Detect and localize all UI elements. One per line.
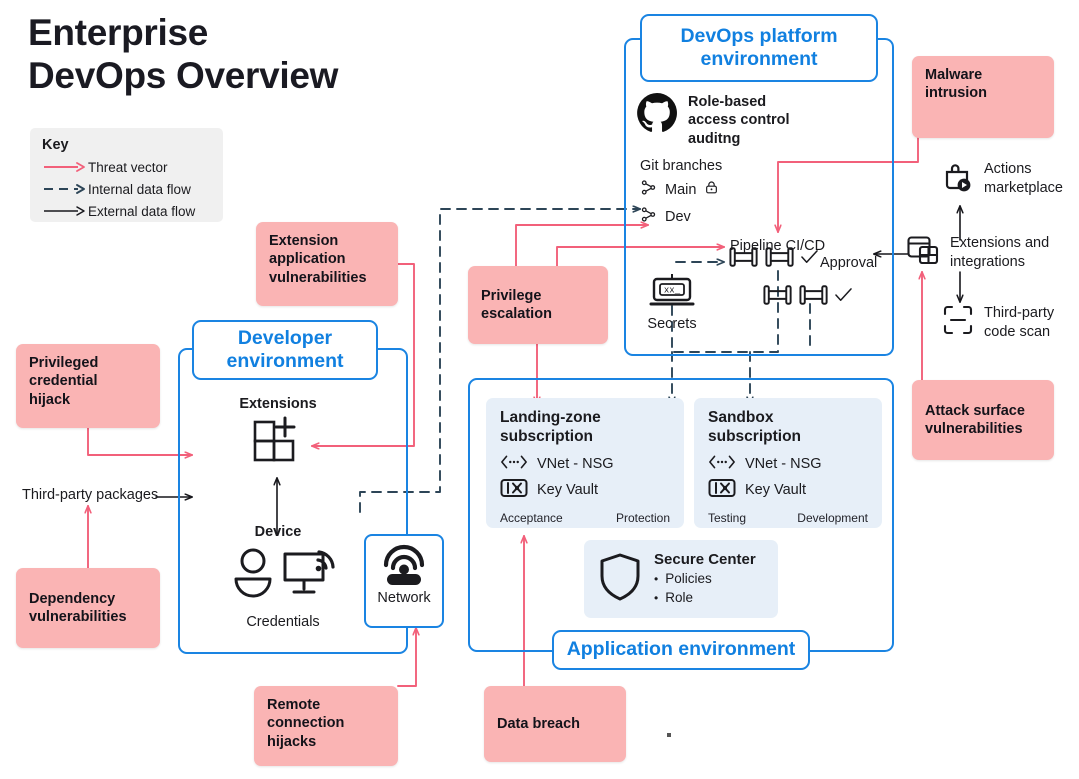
extensions-block: Extensions: [218, 396, 338, 467]
network-label: Network: [366, 590, 442, 606]
key-item-external-flow: External data flow: [42, 200, 211, 222]
actions-marketplace-icon: [940, 160, 974, 199]
threat-data-breach: Data breach: [484, 686, 626, 762]
subscription-footer-item: Acceptance: [500, 511, 563, 525]
secrets-block: xx_ Secrets: [636, 272, 708, 332]
diagram-canvas: Enterprise DevOps Overview Key Threat ve…: [0, 0, 1079, 779]
code-scan-block: Third-party code scan: [942, 304, 1054, 341]
pipeline-row-2: [762, 282, 853, 313]
sandbox-subscription: Sandbox subscription VNet - NSG: [694, 398, 882, 528]
extensions-integrations-icon: [906, 234, 940, 271]
threat-dependency-vulnerabilities: Dependency vulnerabilities: [16, 568, 160, 648]
devops-platform-environment-title: DevOps platform environment: [640, 14, 878, 82]
subscription-footer-item: Testing: [708, 511, 746, 525]
internal-flow-line-icon: [42, 182, 88, 196]
page-title-line2: DevOps Overview: [28, 55, 458, 98]
github-icon: [636, 92, 678, 139]
subscription-item-label: Key Vault: [537, 482, 598, 498]
pipeline-stage-icon: [762, 282, 795, 313]
vnet-icon: [708, 454, 736, 474]
device-label: Device: [232, 524, 324, 540]
subscription-name: Sandbox subscription: [708, 409, 868, 447]
svg-text:xx_: xx_: [664, 286, 681, 296]
extensions-label: Extensions: [218, 396, 338, 412]
key-item-label: Threat vector: [88, 160, 168, 175]
approval-label: Approval: [820, 255, 877, 271]
shield-icon: [598, 552, 642, 607]
vnet-icon: [500, 454, 528, 474]
secure-center-bullet-label: Policies: [665, 570, 712, 588]
network-node: Network: [364, 534, 444, 628]
pipeline-stage-icon: [764, 244, 797, 275]
developer-environment-title: Developer environment: [192, 320, 378, 380]
git-branch-name: Dev: [665, 209, 691, 225]
threat-privileged-credential-hijack: Privileged credential hijack: [16, 344, 160, 428]
third-party-packages-label: Third-party packages: [22, 487, 158, 503]
threat-privilege-escalation: Privilege escalation: [468, 266, 608, 344]
key-item-threat-vector: Threat vector: [42, 156, 211, 178]
git-branch-icon: [640, 179, 657, 201]
device-monitor-wifi-icon: [281, 546, 341, 603]
threat-vector-line-icon: [42, 160, 88, 174]
keyvault-icon: [500, 478, 528, 502]
stray-mark: [667, 733, 671, 737]
secure-center-bullet-label: Role: [665, 589, 693, 607]
subscription-name: Landing-zone subscription: [500, 409, 670, 447]
key-item-label: External data flow: [88, 204, 195, 219]
landing-zone-subscription: Landing-zone subscription VNet - NSG: [486, 398, 684, 528]
key-title: Key: [42, 137, 211, 153]
key-item-internal-flow: Internal data flow: [42, 178, 211, 200]
subscription-footer: Acceptance Protection: [500, 511, 670, 525]
extensions-integrations-label: Extensions and integrations: [950, 234, 1049, 271]
git-branch-icon: [640, 206, 657, 228]
keyvault-icon: [708, 478, 736, 502]
git-branch-main: Main: [640, 179, 722, 201]
subscription-item-vnet: VNet - NSG: [500, 454, 670, 474]
subscription-item-label: VNet - NSG: [745, 456, 822, 472]
external-flow-line-icon: [42, 204, 88, 218]
page-title-line1: Enterprise: [28, 12, 458, 55]
git-branches-heading: Git branches: [640, 158, 722, 174]
subscription-item-keyvault: Key Vault: [708, 478, 868, 502]
application-environment-title: Application environment: [552, 630, 810, 670]
threat-remote-connection-hijacks: Remote connection hijacks: [254, 686, 398, 766]
pipeline-stage-icon: [728, 244, 761, 275]
key-legend: Key Threat vector Internal data flow: [30, 128, 223, 222]
subscription-item-vnet: VNet - NSG: [708, 454, 868, 474]
extensions-integrations-block: Extensions and integrations: [906, 234, 1049, 271]
git-branch-dev: Dev: [640, 206, 722, 228]
device-credentials-icons: [232, 546, 341, 603]
user-credentials-icon: [232, 546, 274, 603]
rbac-block: Role-based access control auditng: [636, 92, 886, 148]
git-branches-block: Git branches Main: [640, 158, 722, 228]
git-branch-name: Main: [665, 182, 696, 198]
subscription-footer-item: Development: [797, 511, 868, 525]
secure-center-title: Secure Center: [654, 551, 756, 568]
threat-malware-intrusion: Malware intrusion: [912, 56, 1054, 138]
page-title: Enterprise DevOps Overview: [28, 12, 458, 98]
approval-check-icon: [800, 249, 819, 271]
wire-credhijack-to-devenv: [88, 428, 192, 455]
bullet-dot: •: [654, 590, 658, 606]
rbac-label: Role-based access control auditng: [688, 92, 790, 148]
threat-attack-surface-vulnerabilities: Attack surface vulnerabilities: [912, 380, 1054, 460]
subscription-item-keyvault: Key Vault: [500, 478, 670, 502]
secure-center-bullet: • Role: [654, 589, 756, 607]
subscription-footer-item: Protection: [616, 511, 670, 525]
pipeline-stage-icon: [798, 282, 831, 313]
key-item-label: Internal data flow: [88, 182, 191, 197]
credentials-label: Credentials: [218, 614, 348, 630]
secure-center-text: Secure Center • Policies • Role: [654, 551, 756, 606]
code-scan-label: Third-party code scan: [984, 304, 1054, 341]
actions-marketplace-block: Actions marketplace: [940, 160, 1063, 199]
extensions-puzzle-icon: [251, 449, 305, 466]
approval-check-icon: [834, 287, 853, 309]
subscription-item-label: Key Vault: [745, 482, 806, 498]
secrets-label: Secrets: [636, 316, 708, 332]
secrets-terminal-icon: xx_: [646, 299, 698, 316]
subscription-footer: Testing Development: [708, 511, 868, 525]
actions-marketplace-label: Actions marketplace: [984, 160, 1063, 197]
secure-center-bullet: • Policies: [654, 570, 756, 588]
secure-center-card: Secure Center • Policies • Role: [584, 540, 778, 618]
pipeline-row-1: Approval: [728, 244, 877, 275]
lock-icon: [704, 180, 719, 200]
bullet-dot: •: [654, 571, 658, 587]
threat-extension-app-vulnerabilities: Extension application vulnerabilities: [256, 222, 398, 306]
code-scan-icon: [942, 304, 974, 341]
subscription-item-label: VNet - NSG: [537, 456, 614, 472]
